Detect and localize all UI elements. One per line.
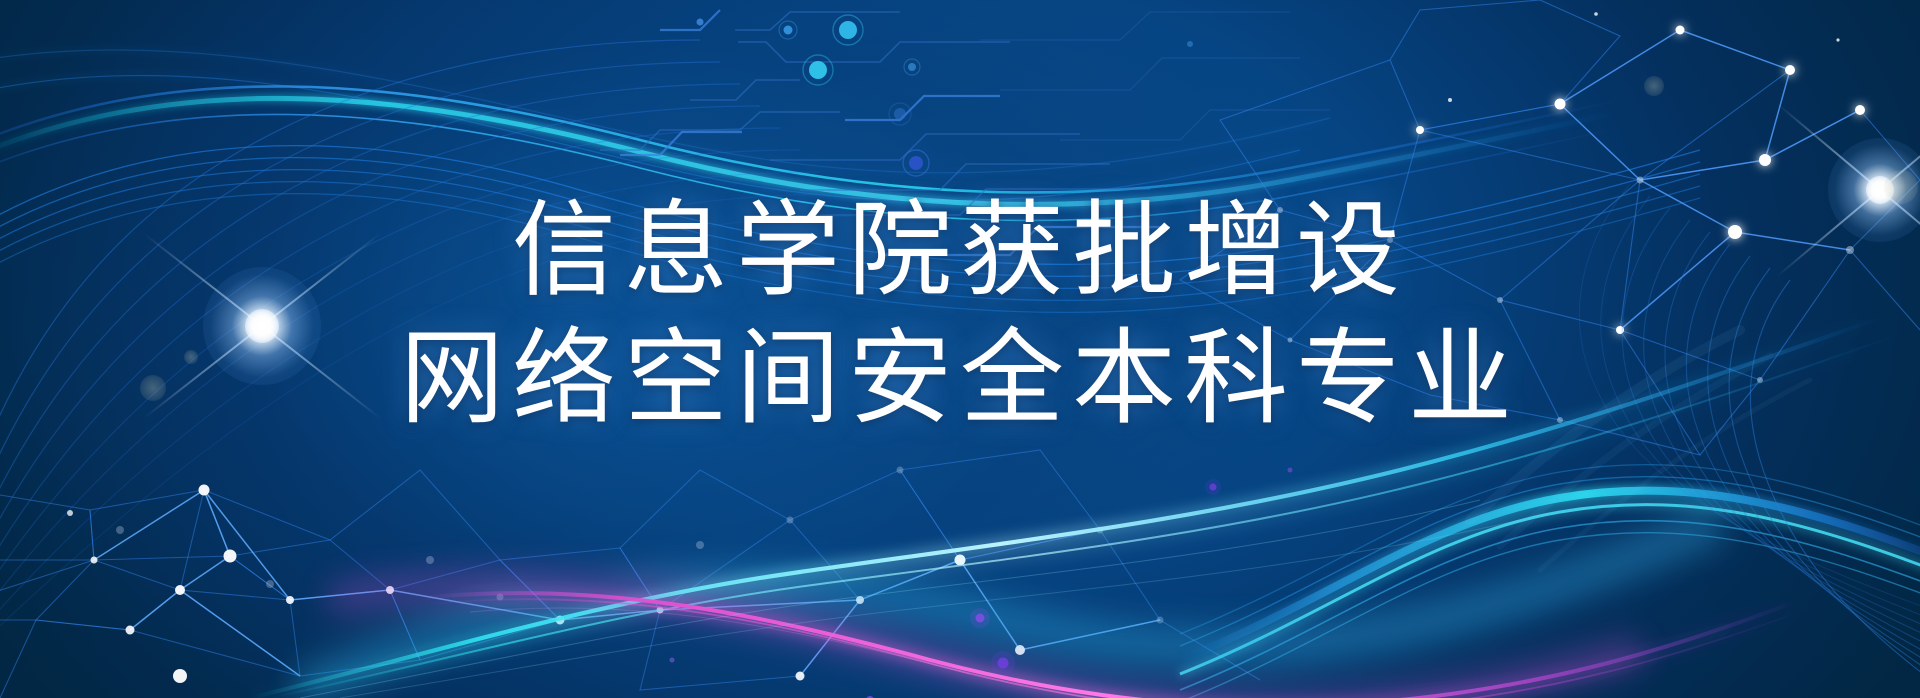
title-line-1: 信息学院获批增设	[0, 186, 1920, 314]
banner-title: 信息学院获批增设 网络空间安全本科专业	[0, 186, 1920, 442]
announcement-banner: 信息学院获批增设 网络空间安全本科专业	[0, 0, 1920, 698]
title-line-2: 网络空间安全本科专业	[0, 314, 1920, 442]
flare-ghost	[1644, 76, 1664, 96]
